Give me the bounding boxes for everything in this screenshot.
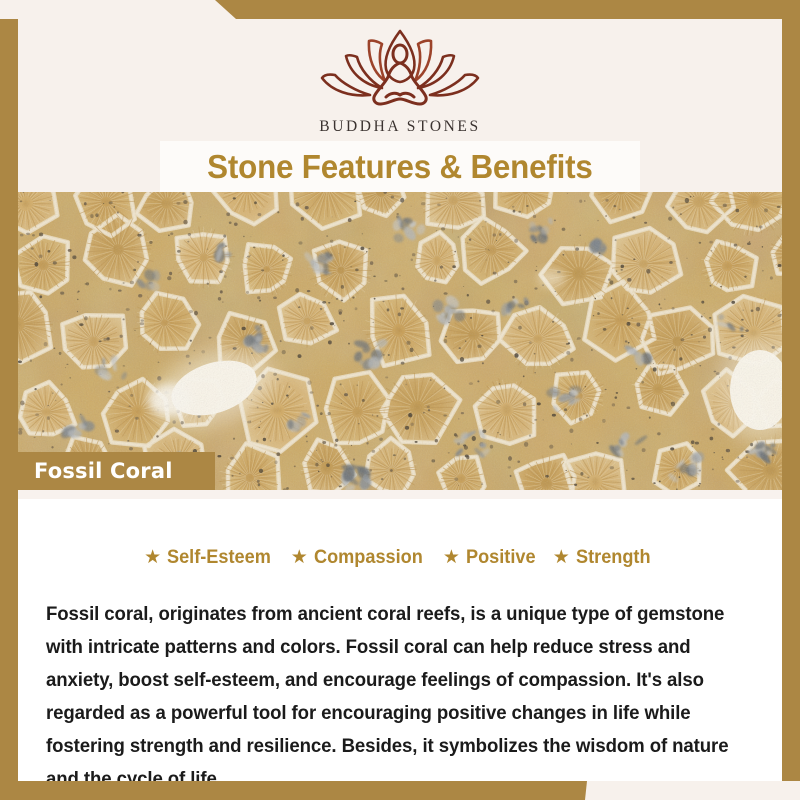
- brand-logo: BUDDHA STONES: [18, 25, 782, 136]
- content-card: ★ Self-Esteem ★ Compassion ★ Positive ★ …: [18, 490, 782, 781]
- star-icon: ★: [144, 548, 161, 567]
- star-icon: ★: [553, 548, 570, 567]
- stone-description: Fossil coral, originates from ancient co…: [46, 598, 730, 781]
- frame-notch-top-left: [0, 0, 236, 19]
- frame-notch-bottom-right: [585, 781, 800, 800]
- benefit-item-compassion: ★ Compassion: [279, 546, 431, 569]
- photo-caption: Fossil Coral: [34, 459, 173, 483]
- brand-header: BUDDHA STONES: [18, 19, 782, 141]
- page-title: Stone Features & Benefits: [207, 148, 592, 186]
- benefit-item-self-esteem: ★ Self-Esteem: [144, 546, 279, 569]
- star-icon: ★: [443, 548, 460, 567]
- benefit-label: Compassion: [314, 546, 423, 569]
- brand-name: BUDDHA STONES: [18, 118, 782, 136]
- fossil-coral-texture: [18, 192, 782, 492]
- poster-inner-page: BUDDHA STONES Stone Features & Benefits: [18, 19, 782, 781]
- infographic-poster: BUDDHA STONES Stone Features & Benefits: [0, 0, 800, 800]
- card-top-edge: [18, 490, 782, 499]
- benefit-label: Strength: [576, 546, 651, 569]
- benefit-label: Self-Esteem: [167, 546, 271, 569]
- star-icon: ★: [291, 548, 308, 567]
- benefit-label: Positive: [466, 546, 536, 569]
- benefit-item-strength: ★ Strength: [541, 546, 656, 569]
- page-title-band: Stone Features & Benefits: [160, 141, 640, 193]
- benefits-list: ★ Self-Esteem ★ Compassion ★ Positive ★ …: [18, 546, 782, 569]
- benefit-item-positive: ★ Positive: [431, 546, 541, 569]
- stone-photo: [18, 192, 782, 492]
- lotus-meditation-figure-logo-icon: [314, 25, 486, 117]
- photo-caption-banner: Fossil Coral: [18, 452, 215, 490]
